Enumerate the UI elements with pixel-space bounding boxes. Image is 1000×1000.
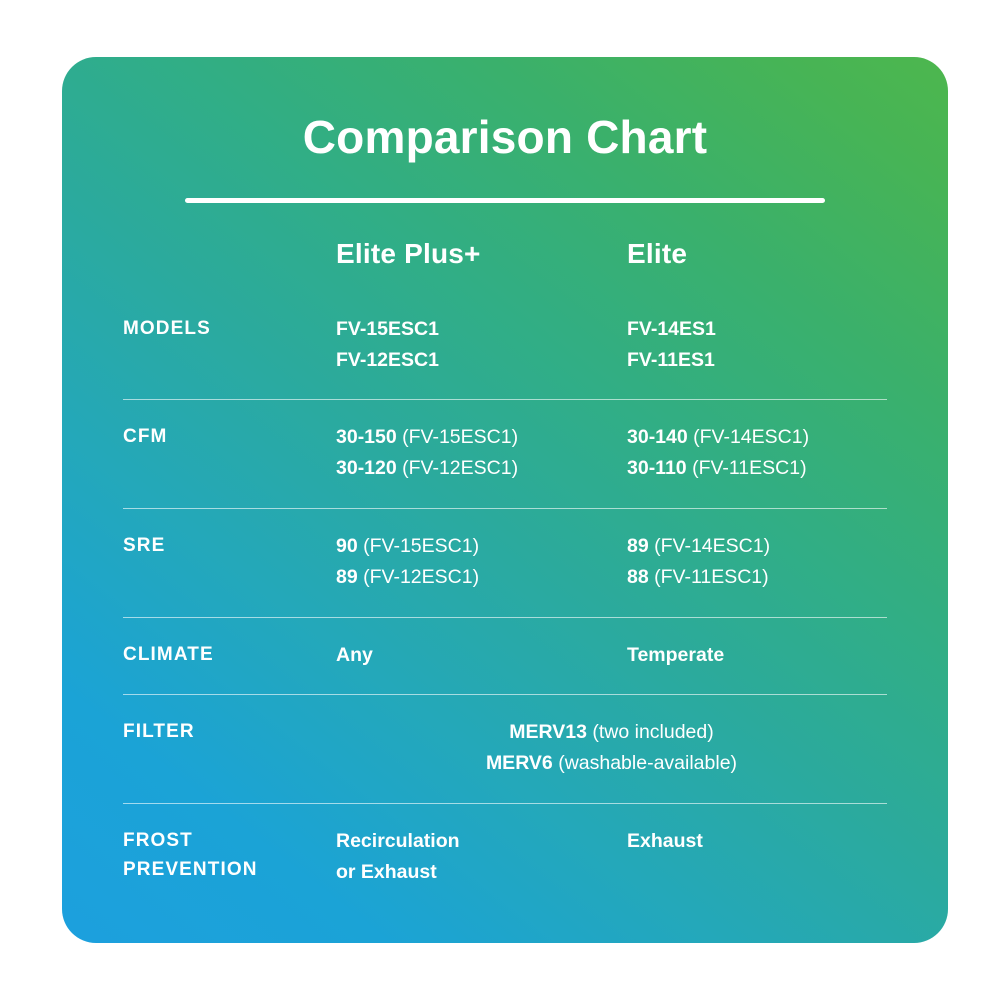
row-label: FILTER: [123, 717, 336, 746]
row-value-elite: Temperate: [627, 640, 887, 671]
page-title: Comparison Chart: [62, 114, 948, 160]
table-row: CFM30-150 (FV-15ESC1)30-120 (FV-12ESC1)3…: [123, 400, 887, 508]
row-label-line: FROST: [123, 826, 336, 855]
row-value-spanned: MERV13 (two included)MERV6 (washable-ava…: [336, 717, 887, 779]
value-line: 88 (FV-11ESC1): [627, 562, 887, 593]
row-value-elite: FV-14ES1FV-11ES1: [627, 314, 887, 376]
value-primary: 30-150: [336, 426, 397, 448]
value-primary: 30-120: [336, 457, 397, 479]
value-line: 90 (FV-15ESC1): [336, 531, 627, 562]
value-primary: 90: [336, 535, 358, 557]
value-line: FV-14ES1: [627, 314, 887, 345]
comparison-table: Elite Plus+ Elite MODELSFV-15ESC1FV-12ES…: [123, 203, 887, 912]
value-qualifier: (FV-14ESC1): [688, 426, 809, 448]
page-root: Comparison Chart Elite Plus+ Elite MODEL…: [0, 0, 1000, 1000]
row-value-elite-plus: 30-150 (FV-15ESC1)30-120 (FV-12ESC1): [336, 422, 627, 484]
row-value-elite: Exhaust: [627, 826, 887, 857]
row-value-elite: 30-140 (FV-14ESC1)30-110 (FV-11ESC1): [627, 422, 887, 484]
value-primary: or Exhaust: [336, 861, 437, 883]
value-line: 89 (FV-14ESC1): [627, 531, 887, 562]
comparison-card: Comparison Chart Elite Plus+ Elite MODEL…: [62, 57, 948, 943]
value-qualifier: (FV-14ESC1): [649, 535, 770, 557]
value-qualifier: (FV-15ESC1): [397, 426, 518, 448]
row-value-elite-plus: 90 (FV-15ESC1)89 (FV-12ESC1): [336, 531, 627, 593]
value-qualifier: (FV-11ESC1): [687, 457, 807, 479]
value-primary: 30-110: [627, 457, 687, 479]
value-primary: FV-15ESC1: [336, 318, 439, 340]
value-primary: 88: [627, 566, 649, 588]
value-line: FV-11ES1: [627, 345, 887, 376]
table-row: FILTERMERV13 (two included)MERV6 (washab…: [123, 695, 887, 803]
value-primary: FV-12ESC1: [336, 349, 439, 371]
value-primary: MERV13: [509, 721, 587, 743]
value-primary: MERV6: [486, 752, 553, 774]
value-line: 30-140 (FV-14ESC1): [627, 422, 887, 453]
value-qualifier: (FV-15ESC1): [358, 535, 479, 557]
table-body: MODELSFV-15ESC1FV-12ESC1FV-14ES1FV-11ES1…: [123, 292, 887, 912]
value-primary: FV-11ES1: [627, 349, 715, 371]
value-line: FV-12ESC1: [336, 345, 627, 376]
table-row: MODELSFV-15ESC1FV-12ESC1FV-14ES1FV-11ES1: [123, 292, 887, 400]
table-header-row: Elite Plus+ Elite: [123, 221, 887, 292]
row-value-elite-plus: Any: [336, 640, 627, 671]
row-value-elite-plus: Recirculationor Exhaust: [336, 826, 627, 888]
value-primary: FV-14ES1: [627, 318, 716, 340]
value-qualifier: (washable-available): [553, 752, 737, 774]
header-cell-elite-plus: Elite Plus+: [336, 239, 627, 270]
row-value-elite: 89 (FV-14ESC1)88 (FV-11ESC1): [627, 531, 887, 593]
value-line: MERV13 (two included): [336, 717, 887, 748]
value-primary: 89: [627, 535, 649, 557]
value-line: 30-120 (FV-12ESC1): [336, 453, 627, 484]
header-cell-elite: Elite: [627, 239, 887, 270]
value-qualifier: (FV-11ESC1): [649, 566, 769, 588]
value-line: Any: [336, 640, 627, 671]
value-qualifier: (two included): [587, 721, 714, 743]
value-primary: Any: [336, 644, 373, 666]
footer-note-line-1: All models feature a removable power cor…: [105, 942, 905, 943]
value-qualifier: (FV-12ESC1): [358, 566, 479, 588]
footer-note: All models feature a removable power cor…: [105, 942, 905, 943]
value-primary: 89: [336, 566, 358, 588]
value-line: FV-15ESC1: [336, 314, 627, 345]
value-line: or Exhaust: [336, 857, 627, 888]
value-line: Temperate: [627, 640, 887, 671]
value-line: 30-150 (FV-15ESC1): [336, 422, 627, 453]
value-primary: Exhaust: [627, 830, 703, 852]
value-line: 89 (FV-12ESC1): [336, 562, 627, 593]
value-line: 30-110 (FV-11ESC1): [627, 453, 887, 484]
value-qualifier: (FV-12ESC1): [397, 457, 518, 479]
row-label: FROSTPREVENTION: [123, 826, 336, 885]
value-line: Exhaust: [627, 826, 887, 857]
row-label: CFM: [123, 422, 336, 451]
table-row: FROSTPREVENTIONRecirculationor ExhaustEx…: [123, 804, 887, 912]
row-label: MODELS: [123, 314, 336, 343]
row-label-line: PREVENTION: [123, 855, 336, 884]
table-row: SRE90 (FV-15ESC1)89 (FV-12ESC1)89 (FV-14…: [123, 509, 887, 617]
table-row: CLIMATEAnyTemperate: [123, 618, 887, 695]
value-primary: Temperate: [627, 644, 724, 666]
row-label: CLIMATE: [123, 640, 336, 669]
row-label: SRE: [123, 531, 336, 560]
row-value-elite-plus: FV-15ESC1FV-12ESC1: [336, 314, 627, 376]
value-primary: 30-140: [627, 426, 688, 448]
value-line: MERV6 (washable-available): [336, 748, 887, 779]
value-line: Recirculation: [336, 826, 627, 857]
value-primary: Recirculation: [336, 830, 460, 852]
